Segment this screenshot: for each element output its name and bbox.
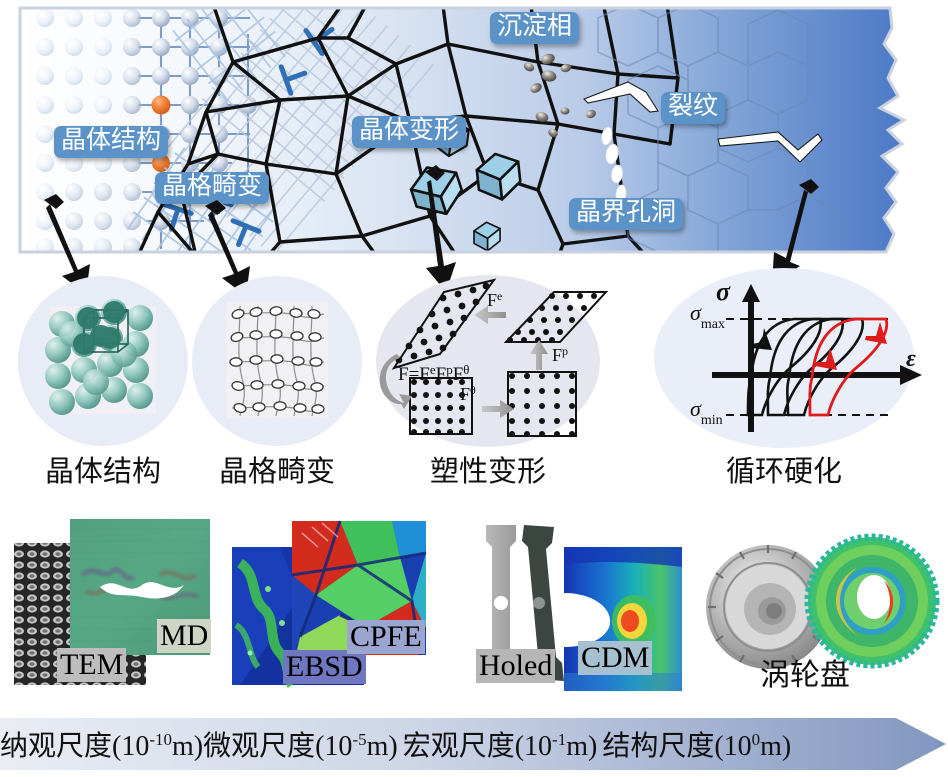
mechanism-ellipse-row: F=FeFpFθ Fe Fp Fθ xyxy=(0,258,948,508)
caption-cyclic-hardening: 循环硬化 xyxy=(704,448,864,490)
sigma-symbol: σ xyxy=(716,277,731,306)
scale-step-macro: 宏观尺度(10-1 m) xyxy=(398,724,598,764)
label-ebsd: EBSD xyxy=(283,650,366,684)
badge-lattice-distortion: 晶格畸变 xyxy=(155,172,269,204)
badge-crystal-deformation: 晶体变形 xyxy=(352,116,466,148)
scale-step-list: 纳观尺度(10-10 m) 微观尺度(10-5 m) 宏观尺度(10-1 m) … xyxy=(0,717,930,771)
figure-root: 晶体结构 晶格畸变 晶体变形 沉淀相 裂纹 晶界孔洞 xyxy=(0,0,948,772)
label-holed: Holed xyxy=(476,649,555,683)
label-md: MD xyxy=(157,619,211,653)
caption-lattice-distortion: 晶格畸变 xyxy=(197,448,357,490)
badge-grain-boundary-void: 晶界孔洞 xyxy=(569,198,683,230)
epsilon-symbol: ε xyxy=(906,346,916,372)
caption-plastic-deformation: 塑性变形 xyxy=(408,448,568,490)
image-turbine-fe-contour xyxy=(808,537,936,665)
orange-solute-atom xyxy=(152,96,171,115)
panel-bg-cyclic-hardening xyxy=(654,268,914,448)
caption-crystal-structure: 晶体结构 xyxy=(23,448,183,490)
badge-precipitate-phase: 沉淀相 xyxy=(490,12,579,44)
scale-step-structure: 结构尺度(100 m) xyxy=(597,724,791,764)
label-cdm: CDM xyxy=(578,641,652,675)
distorted-lattice-grid xyxy=(226,302,328,418)
scale-step-micro: 微观尺度(10-5 m) xyxy=(203,724,398,764)
label-turbine-disk: 涡轮盘 xyxy=(760,650,850,694)
method-image-row: TEM MD EBSD CPFE Holed CDM 涡轮盘 xyxy=(0,505,948,717)
label-tem: TEM xyxy=(57,648,126,682)
badge-crystal-structure: 晶体结构 xyxy=(54,126,168,158)
badge-crack: 裂纹 xyxy=(661,92,725,124)
label-cpfe: CPFE xyxy=(347,620,425,654)
multiscale-microstructure-panel: 晶体结构 晶格畸变 晶体变形 沉淀相 裂纹 晶界孔洞 xyxy=(18,4,930,256)
scale-step-nano: 纳观尺度(10-10 m) xyxy=(0,724,203,764)
fcc-atom-cluster xyxy=(45,299,156,415)
